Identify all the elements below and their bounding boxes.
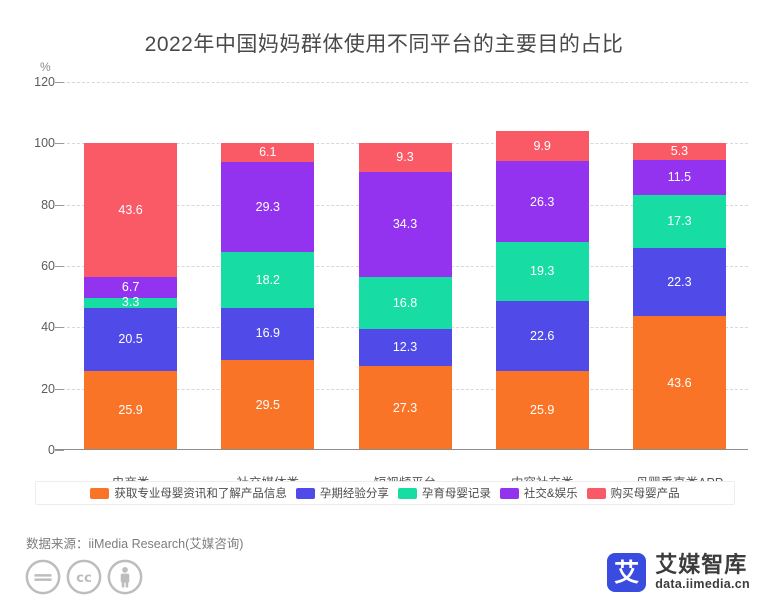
creative-commons-badges: cc xyxy=(24,558,144,596)
bar-column[interactable]: 27.312.316.834.39.3 xyxy=(336,82,473,450)
bar-value-label: 9.9 xyxy=(534,140,551,153)
legend-item[interactable]: 社交&娱乐 xyxy=(500,485,578,501)
bar-value-label: 22.3 xyxy=(667,276,691,289)
stacked-bar[interactable]: 25.922.619.326.39.9 xyxy=(496,131,589,450)
bar-value-label: 43.6 xyxy=(667,377,691,390)
x-axis-line xyxy=(55,449,748,450)
plot-area: % 120100806040200 25.920.53.36.743.629.5… xyxy=(0,60,768,460)
bar-value-label: 5.3 xyxy=(671,145,688,158)
bar-column[interactable]: 29.516.918.229.36.1 xyxy=(199,82,336,450)
y-axis-unit-label: % xyxy=(40,60,51,74)
bar-segment[interactable]: 12.3 xyxy=(359,329,452,367)
person-icon xyxy=(106,558,144,596)
bar-value-label: 25.9 xyxy=(530,404,554,417)
y-axis-tick-label: 100 xyxy=(34,136,55,150)
chart-page: 2022年中国妈妈群体使用不同平台的主要目的占比 % 1201008060402… xyxy=(0,0,768,610)
bar-segment[interactable]: 22.3 xyxy=(633,248,726,316)
legend-swatch xyxy=(90,488,109,499)
legend-swatch xyxy=(587,488,606,499)
legend-label: 获取专业母婴资讯和了解产品信息 xyxy=(114,485,287,501)
equals-icon xyxy=(24,558,62,596)
y-axis-tick-label: 20 xyxy=(41,382,55,396)
bar-segment[interactable]: 17.3 xyxy=(633,195,726,248)
bar-segment[interactable]: 9.9 xyxy=(496,131,589,161)
legend-label: 社交&娱乐 xyxy=(524,485,578,501)
bar-value-label: 17.3 xyxy=(667,215,691,228)
bar-segment[interactable]: 22.6 xyxy=(496,301,589,370)
bar-segment[interactable]: 25.9 xyxy=(496,371,589,450)
legend-label: 购买母婴产品 xyxy=(611,485,680,501)
bar-segment[interactable]: 43.6 xyxy=(84,143,177,277)
brand-mark-icon: 艾 xyxy=(607,553,646,592)
y-axis-tick-label: 80 xyxy=(41,198,55,212)
bar-segment[interactable]: 6.1 xyxy=(221,143,314,162)
bar-value-label: 12.3 xyxy=(393,341,417,354)
brand-name: 艾媒智库 xyxy=(655,553,750,576)
legend-swatch xyxy=(296,488,315,499)
bar-column[interactable]: 25.920.53.36.743.6 xyxy=(62,82,199,450)
bar-segment[interactable]: 9.3 xyxy=(359,143,452,172)
bar-segment[interactable]: 16.8 xyxy=(359,277,452,329)
bar-value-label: 6.1 xyxy=(259,146,276,159)
legend-swatch xyxy=(500,488,519,499)
stacked-bar[interactable]: 29.516.918.229.36.1 xyxy=(221,143,314,450)
bar-segment[interactable]: 29.3 xyxy=(221,162,314,252)
bar-value-label: 16.8 xyxy=(393,297,417,310)
bar-value-label: 29.5 xyxy=(256,399,280,412)
legend-label: 孕育母婴记录 xyxy=(422,485,491,501)
bar-value-label: 9.3 xyxy=(396,151,413,164)
legend-label: 孕期经验分享 xyxy=(320,485,389,501)
bar-segment[interactable]: 16.9 xyxy=(221,308,314,360)
bar-segment[interactable]: 20.5 xyxy=(84,308,177,371)
axis-area: 120100806040200 25.920.53.36.743.629.516… xyxy=(62,82,748,450)
y-axis-tick-label: 60 xyxy=(41,259,55,273)
bar-value-label: 27.3 xyxy=(393,402,417,415)
bar-segment[interactable]: 34.3 xyxy=(359,172,452,277)
bar-series-container: 25.920.53.36.743.629.516.918.229.36.127.… xyxy=(62,82,748,450)
bar-segment[interactable]: 3.3 xyxy=(84,298,177,308)
bar-value-label: 20.5 xyxy=(118,333,142,346)
brand-text: 艾媒智库 data.iimedia.cn xyxy=(655,553,750,592)
bar-column[interactable]: 25.922.619.326.39.9 xyxy=(474,82,611,450)
cc-icon: cc xyxy=(65,558,103,596)
y-axis-tick-label: 40 xyxy=(41,320,55,334)
bar-value-label: 43.6 xyxy=(118,204,142,217)
bar-value-label: 19.3 xyxy=(530,265,554,278)
y-axis-tick xyxy=(55,450,64,451)
bar-segment[interactable]: 43.6 xyxy=(633,316,726,450)
data-source-note: 数据来源：iiMedia Research(艾媒咨询) xyxy=(26,533,243,552)
bar-segment[interactable]: 11.5 xyxy=(633,160,726,195)
bar-segment[interactable]: 29.5 xyxy=(221,360,314,450)
stacked-bar[interactable]: 43.622.317.311.55.3 xyxy=(633,143,726,450)
legend-item[interactable]: 获取专业母婴资讯和了解产品信息 xyxy=(90,485,287,501)
bar-segment[interactable]: 18.2 xyxy=(221,252,314,308)
bar-segment[interactable]: 27.3 xyxy=(359,366,452,450)
bar-value-label: 34.3 xyxy=(393,218,417,231)
page-title: 2022年中国妈妈群体使用不同平台的主要目的占比 xyxy=(0,28,768,58)
stacked-bar[interactable]: 27.312.316.834.39.3 xyxy=(359,143,452,450)
chart-legend[interactable]: 获取专业母婴资讯和了解产品信息孕期经验分享孕育母婴记录社交&娱乐购买母婴产品 xyxy=(35,481,735,505)
stacked-bar[interactable]: 25.920.53.36.743.6 xyxy=(84,143,177,450)
bar-segment[interactable]: 25.9 xyxy=(84,371,177,450)
y-axis-tick-label: 120 xyxy=(34,75,55,89)
bar-value-label: 26.3 xyxy=(530,196,554,209)
bar-value-label: 25.9 xyxy=(118,404,142,417)
brand-url: data.iimedia.cn xyxy=(655,577,750,592)
bar-value-label: 29.3 xyxy=(256,201,280,214)
bar-value-label: 3.3 xyxy=(122,296,139,309)
bar-value-label: 22.6 xyxy=(530,330,554,343)
legend-item[interactable]: 购买母婴产品 xyxy=(587,485,680,501)
bar-value-label: 18.2 xyxy=(256,274,280,287)
bar-column[interactable]: 43.622.317.311.55.3 xyxy=(611,82,748,450)
svg-text:cc: cc xyxy=(76,571,92,586)
bar-value-label: 11.5 xyxy=(668,171,691,184)
legend-item[interactable]: 孕育母婴记录 xyxy=(398,485,491,501)
bar-value-label: 6.7 xyxy=(122,281,139,294)
bar-segment[interactable]: 5.3 xyxy=(633,143,726,159)
legend-item[interactable]: 孕期经验分享 xyxy=(296,485,389,501)
bar-segment[interactable]: 26.3 xyxy=(496,161,589,242)
brand-logo: 艾 艾媒智库 data.iimedia.cn xyxy=(607,553,750,592)
bar-value-label: 16.9 xyxy=(256,327,280,340)
y-axis-tick-label: 0 xyxy=(48,443,55,457)
legend-swatch xyxy=(398,488,417,499)
bar-segment[interactable]: 19.3 xyxy=(496,242,589,301)
